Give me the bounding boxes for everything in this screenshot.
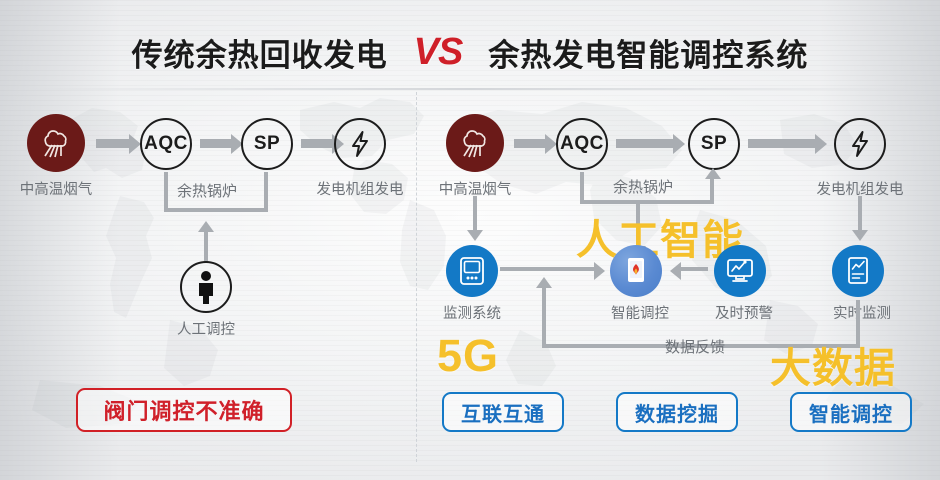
header: 传统余热回收发电 VS 余热发电智能调控系统 (0, 24, 940, 80)
left-arrow-gas-to-aqc (96, 139, 130, 148)
left-boiler-label: 余热锅炉 (172, 180, 242, 201)
right-flue-gas-node (446, 114, 504, 172)
right-node-realtime-monitor (832, 245, 884, 297)
right-sp-node: SP (688, 118, 740, 170)
right-node-monitor-system (446, 245, 498, 297)
right-arrow-sp-to-gen (748, 139, 816, 148)
right-aqc-node: AQC (556, 118, 608, 170)
tag-smart-control: 智能调控 (790, 392, 912, 432)
keyword-bigdata: 大数据 (770, 334, 896, 394)
lightning-icon (345, 129, 375, 159)
left-manual-label: 人工调控 (160, 318, 252, 339)
left-arrow-sp-to-gen (301, 139, 333, 148)
left-flue-gas-node (27, 114, 85, 172)
right-arrow-gas-to-aqc (514, 139, 546, 148)
lightning-icon (845, 129, 875, 159)
right-panel-title: 余热发电智能调控系统 (488, 30, 808, 75)
smoke-icon (36, 123, 76, 163)
right-node-realtime-monitor-label: 实时监测 (814, 302, 910, 323)
header-divider-rule (18, 88, 922, 90)
left-panel-title: 传统余热回收发电 (132, 30, 388, 75)
left-flue-gas-label: 中高温烟气 (10, 178, 102, 199)
panel-divider (416, 92, 417, 462)
report-chart-icon (845, 256, 871, 286)
right-node-early-warning (714, 245, 766, 297)
right-gas-drop-line (473, 196, 477, 234)
left-aqc-node: AQC (140, 118, 192, 170)
right-bracket-arrow-to-sp (705, 168, 721, 179)
right-generator-node (834, 118, 886, 170)
left-arrow-aqc-to-sp (200, 139, 232, 148)
connector-monitor-to-control (500, 267, 596, 271)
vs-badge: VS (414, 31, 463, 74)
right-boiler-label: 余热锅炉 (608, 176, 678, 197)
feedback-line-up (542, 288, 546, 348)
feedback-label: 数据反馈 (660, 336, 730, 357)
left-manual-stem (204, 232, 208, 262)
connector-warning-to-control-arrow (670, 262, 681, 280)
right-gen-drop-arrow (852, 230, 868, 241)
smoke-icon (455, 123, 495, 163)
infographic-canvas: 传统余热回收发电 VS 余热发电智能调控系统 中高温烟气 AQC SP 发电机组… (0, 0, 940, 480)
left-generator-label: 发电机组发电 (294, 178, 426, 199)
right-node-monitor-system-label: 监测系统 (424, 302, 520, 323)
tag-interconnect: 互联互通 (442, 392, 564, 432)
right-node-smart-control-label: 智能调控 (592, 302, 688, 323)
left-conclusion-badge: 阀门调控不准确 (76, 388, 292, 432)
right-node-smart-control (610, 245, 662, 297)
desktop-chart-icon (725, 257, 755, 285)
device-monitor-icon (458, 256, 486, 286)
tablet-flame-icon (623, 256, 649, 286)
feedback-arrowhead (536, 277, 552, 288)
left-generator-node (334, 118, 386, 170)
right-gen-drop-line (858, 196, 862, 234)
person-icon (194, 270, 218, 304)
tag-data-mining: 数据挖掘 (616, 392, 738, 432)
left-sp-node: SP (241, 118, 293, 170)
connector-monitor-to-control-arrow (594, 262, 605, 280)
keyword-5g: 5G (437, 330, 499, 382)
connector-warning-to-control (680, 267, 708, 271)
left-manual-arrowhead (198, 221, 214, 232)
right-node-early-warning-label: 及时预警 (696, 302, 792, 323)
left-manual-node (180, 261, 232, 313)
right-gas-drop-arrow (467, 230, 483, 241)
right-arrow-aqc-to-sp (616, 139, 674, 148)
